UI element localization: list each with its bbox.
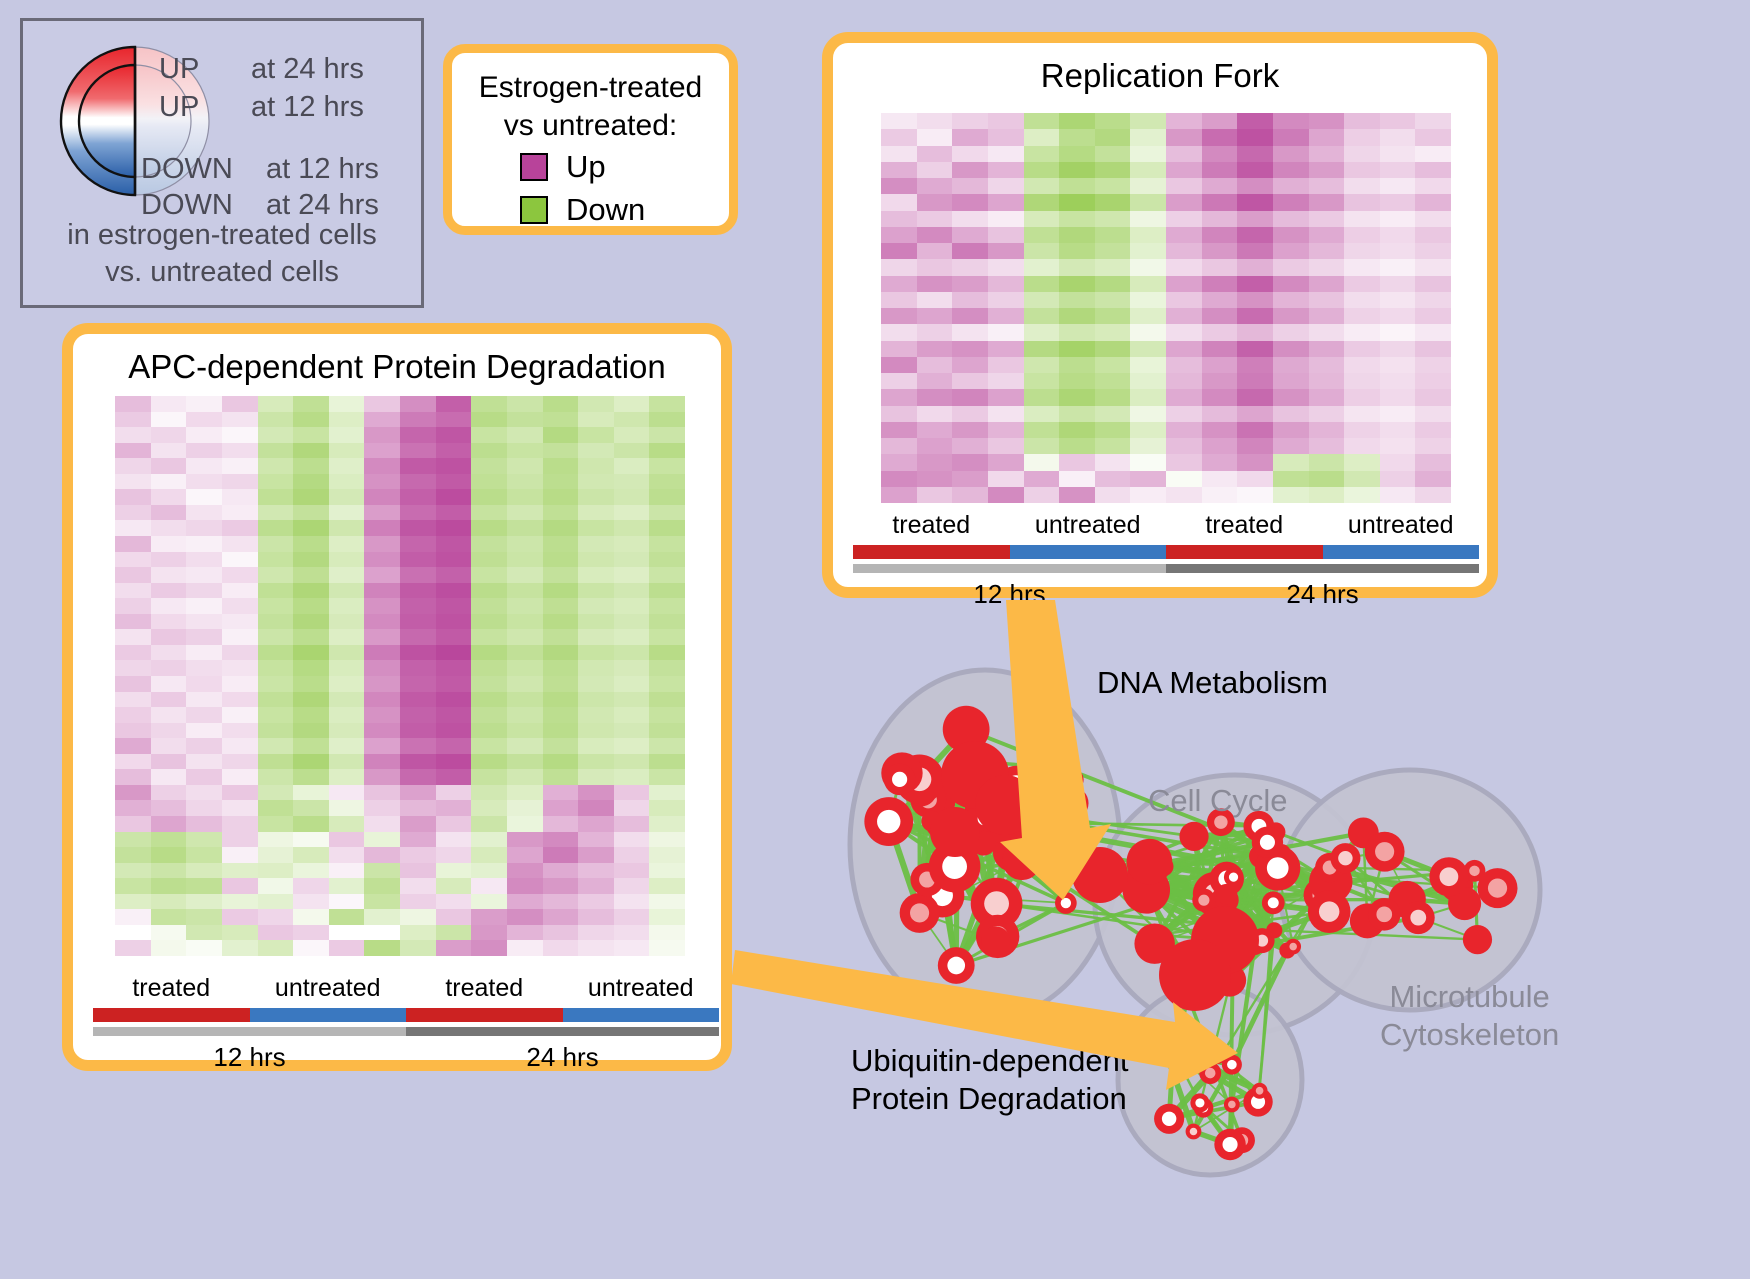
network-node-core — [1061, 898, 1071, 908]
network-node-core — [1195, 1098, 1204, 1107]
network-node-core — [1410, 910, 1426, 926]
treatment-bar-seg-0 — [93, 1008, 250, 1022]
group-label-0: treated — [853, 511, 1010, 540]
heatmap-apc-degradation — [115, 396, 685, 956]
cluster-label-dna-metabolism: DNA Metabolism — [1097, 664, 1328, 702]
timepoint-bar-replication — [853, 564, 1479, 573]
legend-item-up: Up — [520, 149, 606, 185]
treatment-bar-seg-1 — [250, 1008, 407, 1022]
network-node-core — [1205, 1068, 1216, 1079]
updown-title-line2: vs untreated: — [452, 107, 729, 145]
time-labels-apc: 12 hrs24 hrs — [93, 1042, 719, 1073]
network-node-core — [947, 957, 965, 975]
group-label-2: treated — [1166, 511, 1323, 540]
heatmap-replication-fork — [881, 113, 1451, 503]
network-node[interactable] — [1181, 1028, 1197, 1044]
time-label-1: 24 hrs — [406, 1042, 719, 1073]
network-node-core — [1229, 873, 1238, 882]
network-node-core — [984, 891, 1009, 916]
cluster-label-cell-cycle: Cell Cycle — [1148, 782, 1288, 820]
colorwheel-row-2-direction: DOWN — [141, 153, 233, 186]
treatment-bar-seg-2 — [406, 1008, 563, 1022]
network-node-core — [1289, 943, 1297, 951]
treatment-bar-seg-1 — [1010, 545, 1167, 559]
time-bar-seg-0 — [853, 564, 1166, 573]
network-node-core — [1198, 895, 1209, 906]
network-node-core — [910, 903, 929, 922]
colorwheel-caption: in estrogen-treated cells vs. untreated … — [23, 217, 421, 291]
network-node-core — [892, 772, 907, 787]
colorwheel-caption-line1: in estrogen-treated cells — [23, 217, 421, 254]
panel-replication-fork: Replication Fork treateduntreatedtreated… — [822, 32, 1498, 598]
network-node-core — [1190, 1128, 1198, 1136]
network-node-core — [877, 810, 900, 833]
updown-legend-card: Estrogen-treated vs untreated: Up Down — [443, 44, 738, 235]
network-node-core — [1158, 1042, 1171, 1055]
network-node[interactable] — [1206, 1044, 1227, 1065]
network-node-core — [1256, 1087, 1264, 1095]
group-labels-replication: treateduntreatedtreateduntreated — [853, 511, 1479, 540]
timepoint-bar-apc — [93, 1027, 719, 1036]
up-swatch-icon — [520, 153, 548, 181]
cluster-label-ubiquitin-degradation: Ubiquitin-dependent Protein Degradation — [851, 1042, 1129, 1118]
legend-item-down: Down — [520, 192, 645, 228]
network-node[interactable] — [1060, 768, 1083, 791]
time-bar-seg-0 — [93, 1027, 406, 1036]
cluster-label-microtubule-cytoskeleton: Microtubule Cytoskeleton — [1380, 978, 1559, 1054]
network-node-core — [1440, 867, 1459, 886]
legend-label-down: Down — [566, 192, 645, 228]
group-label-0: treated — [93, 974, 250, 1003]
network-node-core — [1162, 1112, 1176, 1126]
network-node[interactable] — [1179, 822, 1208, 851]
network-node[interactable] — [1002, 841, 1041, 880]
legend-label-up: Up — [566, 149, 606, 185]
network-node[interactable] — [1216, 884, 1237, 905]
colorwheel-row-1-direction: UP — [159, 91, 199, 124]
colorwheel-caption-line2: vs. untreated cells — [23, 254, 421, 291]
panel-title-apc: APC-dependent Protein Degradation — [73, 348, 721, 386]
network-node-core — [1227, 1060, 1237, 1070]
figure-canvas: UP at 24 hrs UP at 12 hrs DOWN at 12 hrs… — [0, 0, 1750, 1279]
time-label-0: 12 hrs — [93, 1042, 406, 1073]
treatment-bar-seg-2 — [1166, 545, 1323, 559]
network-node[interactable] — [1055, 787, 1088, 820]
group-label-3: untreated — [1323, 511, 1480, 540]
network-node[interactable] — [975, 775, 1035, 835]
network-node-core — [1488, 879, 1507, 898]
group-label-1: untreated — [1010, 511, 1167, 540]
network-node[interactable] — [981, 926, 1010, 955]
treatment-bar-replication — [853, 545, 1479, 559]
group-label-2: treated — [406, 974, 563, 1003]
group-label-3: untreated — [563, 974, 720, 1003]
network-node[interactable] — [1463, 925, 1492, 954]
group-labels-apc: treateduntreatedtreateduntreated — [93, 974, 719, 1003]
network-node-core — [1375, 842, 1394, 861]
network-node-core — [942, 854, 967, 879]
treatment-bar-seg-0 — [853, 545, 1010, 559]
time-bar-seg-1 — [1166, 564, 1479, 573]
network-node-core — [1228, 1101, 1236, 1109]
network-node-core — [1267, 857, 1289, 879]
network-node-core — [1268, 897, 1279, 908]
pathway-network-diagram — [770, 600, 1750, 1279]
network-node-core — [1469, 866, 1479, 876]
colorwheel-row-2-time: at 12 hrs — [266, 153, 379, 186]
down-swatch-icon — [520, 196, 548, 224]
time-bar-seg-1 — [406, 1027, 719, 1036]
network-node-core — [1260, 835, 1275, 850]
treatment-bar-seg-3 — [1323, 545, 1480, 559]
network-node[interactable] — [1127, 839, 1173, 885]
network-node-core — [1338, 851, 1352, 865]
colorwheel-row-0-time: at 24 hrs — [251, 53, 364, 86]
network-node[interactable] — [1072, 847, 1128, 903]
colorwheel-legend-box: UP at 24 hrs UP at 12 hrs DOWN at 12 hrs… — [20, 18, 424, 308]
colorwheel-row-1-time: at 12 hrs — [251, 91, 364, 124]
network-node-core — [1223, 1137, 1238, 1152]
group-label-1: untreated — [250, 974, 407, 1003]
treatment-bar-seg-3 — [563, 1008, 720, 1022]
panel-apc-degradation: APC-dependent Protein Degradation treate… — [62, 323, 732, 1071]
panel-title-replication: Replication Fork — [833, 57, 1487, 95]
network-node-core — [1319, 901, 1339, 921]
colorwheel-row-0-direction: UP — [159, 53, 199, 86]
network-node[interactable] — [930, 807, 980, 857]
network-node[interactable] — [1159, 939, 1231, 1011]
updown-legend-title: Estrogen-treated vs untreated: — [452, 69, 729, 146]
treatment-bar-apc — [93, 1008, 719, 1022]
updown-title-line1: Estrogen-treated — [452, 69, 729, 107]
network-node-core — [1376, 906, 1392, 922]
